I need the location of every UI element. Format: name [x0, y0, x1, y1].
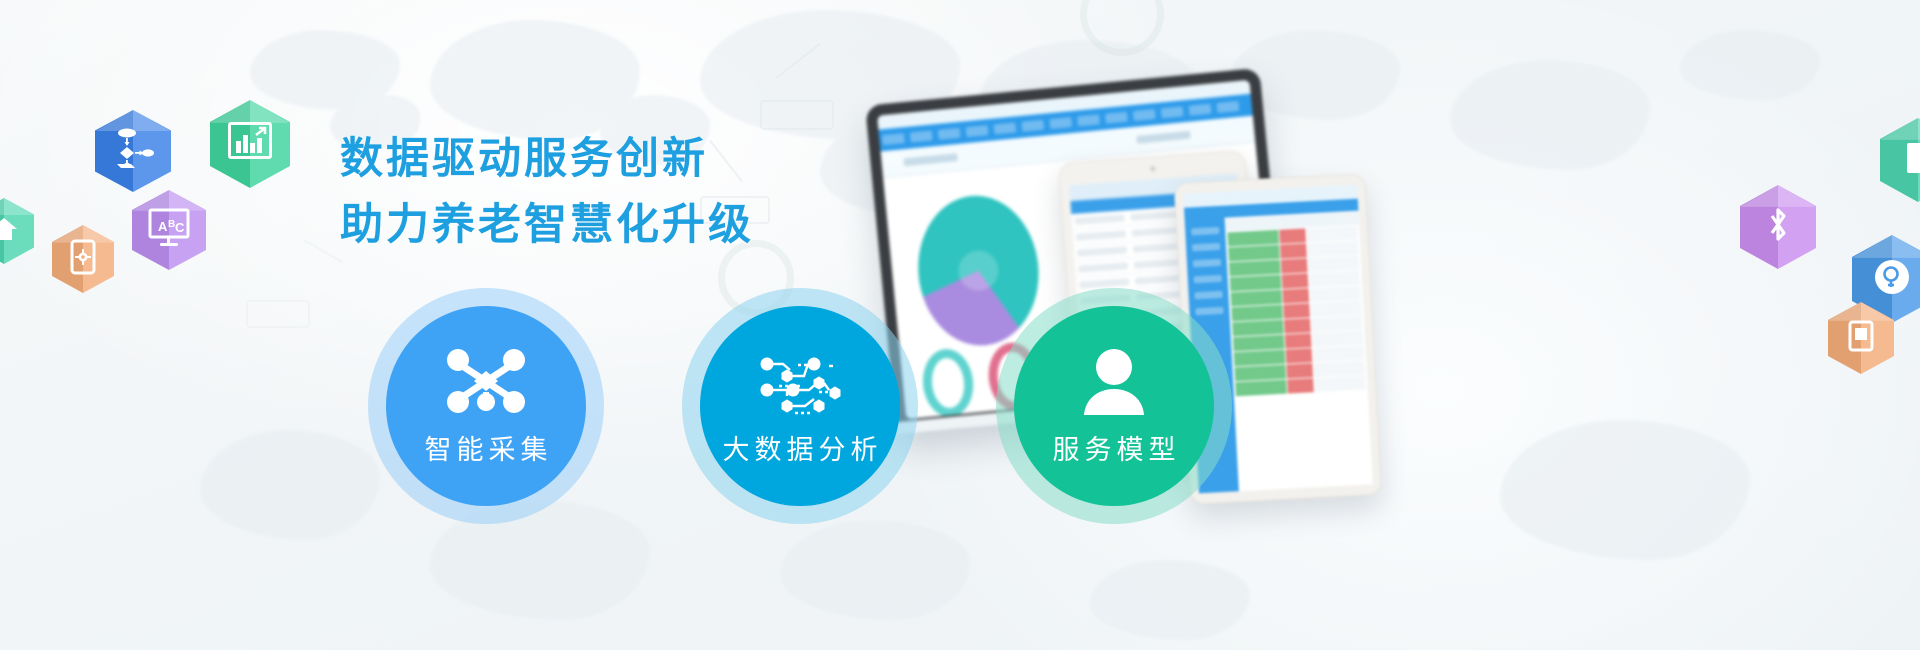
feature-circle-service-model[interactable]: 服务模型 [996, 288, 1232, 524]
feature-circle-big-data-analysis[interactable]: 大数据分析 [682, 288, 918, 524]
bluetooth-hexagon [1740, 185, 1816, 269]
bluetooth-icon [1763, 205, 1793, 250]
home-hexagon [0, 198, 34, 264]
feature-label: 服务模型 [1048, 428, 1181, 467]
abc-monitor-icon: A B C [148, 208, 190, 253]
barchart-hexagon [210, 100, 290, 188]
circuit-board-icon [757, 346, 843, 416]
feature-circle-smart-collection[interactable]: 智能采集 [368, 288, 604, 524]
page-title: 数据驱动服务创新 助力养老智慧化升级 [340, 126, 754, 258]
document-hexagon [1880, 118, 1920, 202]
bar-chart-icon [228, 122, 272, 167]
headline-line-1: 数据驱动服务创新 [340, 126, 754, 192]
home-icon [0, 216, 18, 247]
feature-circle-row: 智能采集 [0, 288, 1920, 524]
phone-gear-icon [70, 239, 96, 280]
network-nodes-icon [443, 346, 529, 416]
hero-banner: A B C [0, 0, 1920, 650]
document-icon [1904, 141, 1920, 180]
flowchart-icon [112, 127, 154, 176]
feature-label: 智能采集 [420, 428, 553, 467]
svg-text:C: C [175, 220, 185, 235]
headline-line-2: 助力养老智慧化升级 [340, 192, 754, 258]
feature-label: 大数据分析 [718, 428, 883, 467]
flowchart-hexagon [95, 110, 171, 192]
svg-text:A: A [158, 219, 168, 234]
abc-monitor-hexagon: A B C [132, 190, 206, 270]
phone-gear-hexagon [52, 225, 114, 293]
user-person-icon [1071, 346, 1157, 416]
